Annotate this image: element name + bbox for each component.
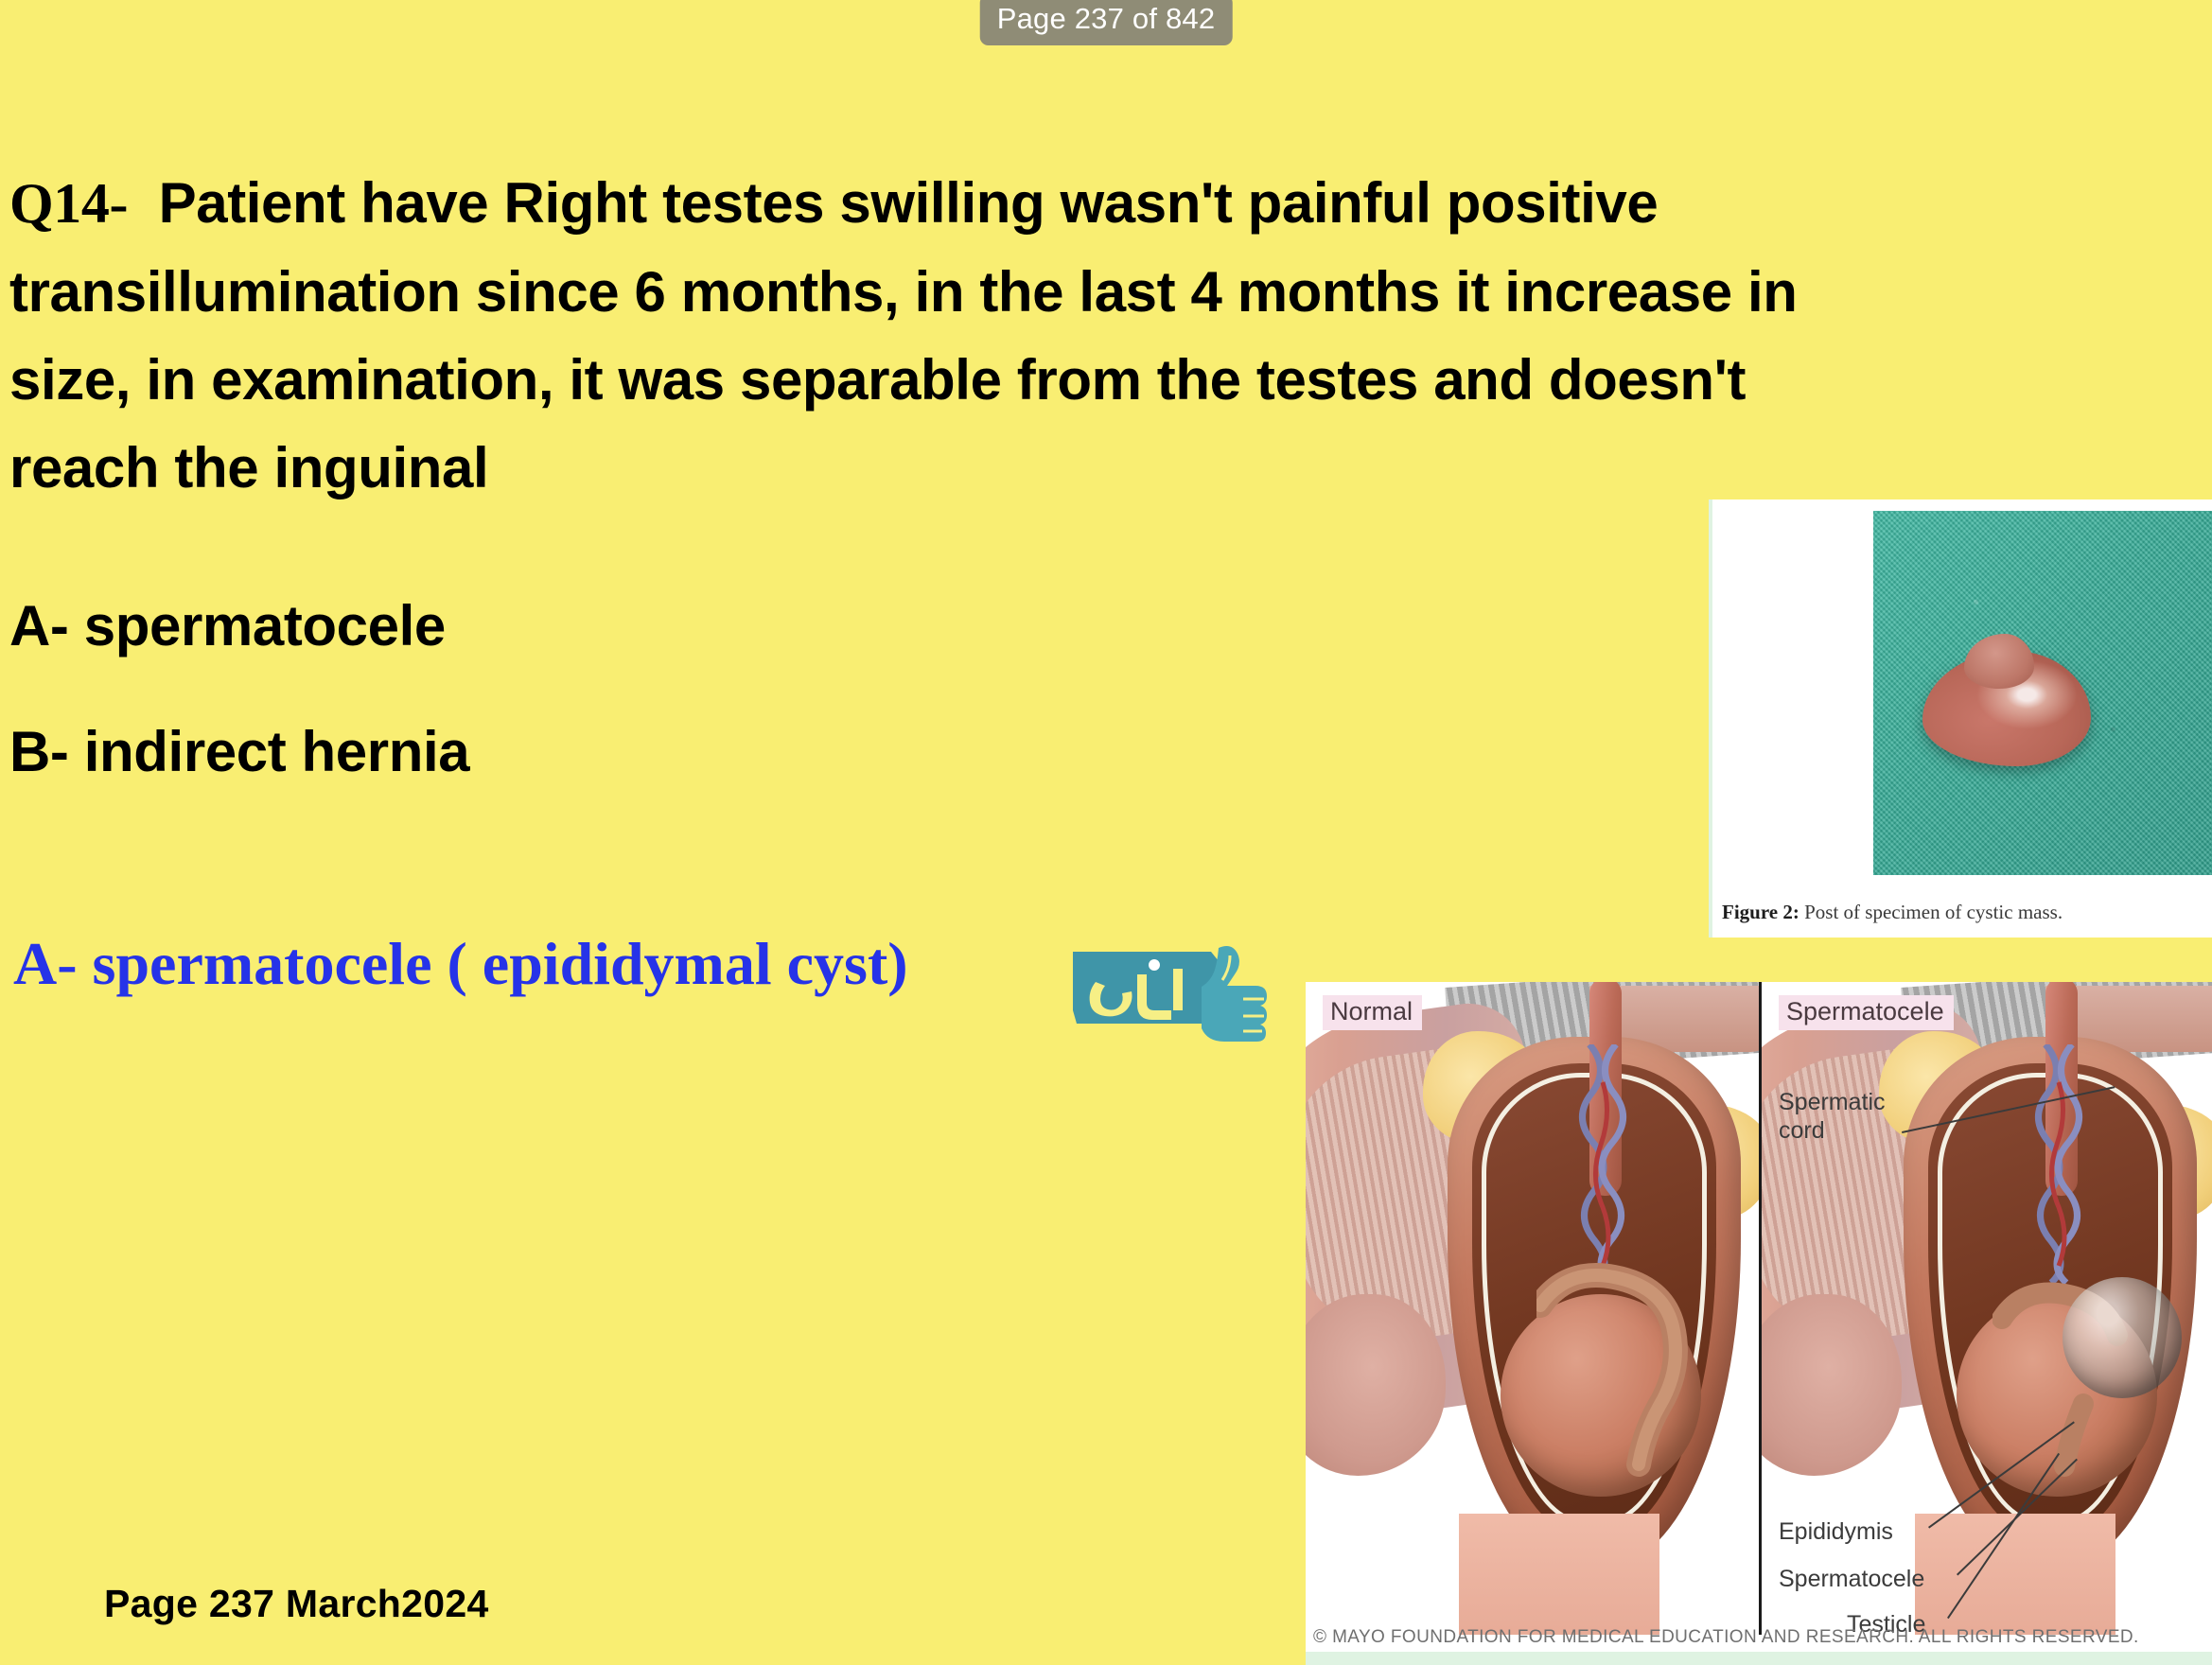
specimen-figure: Figure 2: Post of specimen of cystic mas…	[1709, 499, 2212, 938]
glans	[1306, 1294, 1446, 1476]
question-number: Q14-	[9, 172, 128, 235]
cystic-mass-lobe	[1964, 634, 2034, 689]
question-line-2: transillumination since 6 months, in the…	[9, 248, 2204, 336]
mayo-copyright: © MAYO FOUNDATION FOR MEDICAL EDUCATION …	[1313, 1627, 2139, 1648]
epididymis-svg	[1536, 1262, 1722, 1480]
perineum-normal	[1459, 1514, 1659, 1635]
question-line-3: size, in examination, it was separable f…	[9, 336, 2204, 424]
epididymis-normal	[1536, 1262, 1722, 1480]
mayo-panel-title-normal: Normal	[1323, 995, 1422, 1030]
annotation-spermatocele-label: Spermatocele	[1779, 1565, 1924, 1593]
mayo-bottom-strip	[1306, 1652, 2212, 1665]
mayo-anatomy-figure: Normal Spermatocele	[1306, 982, 2212, 1665]
option-b[interactable]: B- indirect hernia	[9, 689, 469, 815]
question-line-1-text: Patient have Right testes swilling wasn'…	[159, 171, 1659, 235]
kafo-logo	[1067, 937, 1287, 1043]
options-list: A- spermatocele B- indirect hernia	[9, 563, 469, 815]
specimen-caption-bold: Figure 2:	[1722, 901, 1799, 923]
annotation-epididymis: Epididymis	[1779, 1517, 1893, 1546]
glans-r	[1759, 1294, 1902, 1476]
annotation-spermatic-cord: Spermatic cord	[1779, 1088, 1886, 1145]
kafo-logo-svg	[1067, 937, 1287, 1043]
question-block: Q14- Patient have Right testes swilling …	[9, 159, 2204, 512]
option-a[interactable]: A- spermatocele	[9, 563, 469, 689]
mayo-panel-spermatocele: Spermatocele Spermatic cord Epididymis S…	[1759, 982, 2212, 1635]
question-line-1: Q14- Patient have Right testes swilling …	[9, 159, 2204, 248]
mayo-panel-title-spermatocele: Spermatocele	[1779, 995, 1954, 1030]
specimen-caption-rest: Post of specimen of cystic mass.	[1799, 901, 2063, 923]
page-indicator-badge: Page 237 of 842	[980, 0, 1233, 45]
footer-page-label: Page 237 March2024	[104, 1582, 489, 1626]
spermatocele-cyst	[2063, 1277, 2182, 1398]
specimen-caption: Figure 2: Post of specimen of cystic mas…	[1722, 901, 2063, 924]
specimen-photograph	[1873, 511, 2212, 875]
answer-text: A- spermatocele ( epididymal cyst)	[13, 927, 908, 1001]
mayo-panel-normal: Normal	[1306, 982, 1759, 1635]
perineum-spermatocele	[1915, 1514, 2115, 1635]
